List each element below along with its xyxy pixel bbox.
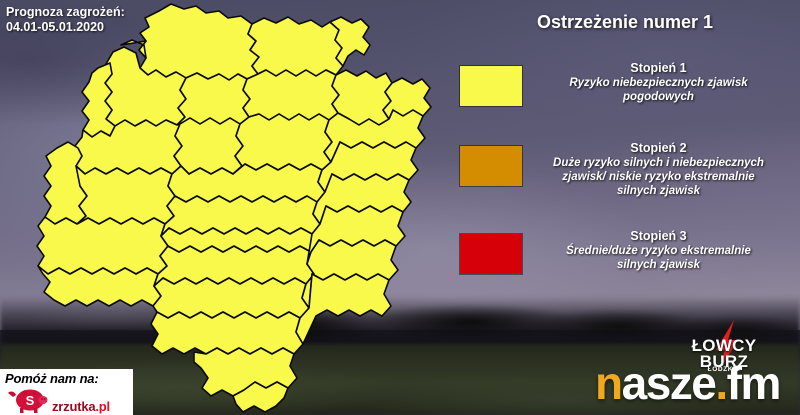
county-area: [151, 312, 303, 354]
radio-logo-nasze-fm[interactable]: nasze.fm: [595, 358, 780, 408]
svg-text:S: S: [26, 393, 35, 408]
county-area: [177, 73, 250, 125]
county-area: [174, 118, 243, 174]
county-area: [76, 166, 175, 224]
radio-logo-fm: fm: [727, 357, 780, 409]
radio-logo-dot: .: [715, 357, 726, 409]
radio-logo-mid: asze: [622, 357, 716, 409]
legend-swatch-level-2: [460, 146, 522, 186]
legend-text-level-3: Stopień 3 Średnie/duże ryzyko ekstremaln…: [522, 228, 795, 272]
donate-site-base: zrzutka: [52, 399, 95, 414]
legend-row-level-2[interactable]: Stopień 2 Duże ryzyko silnych i niebezpi…: [455, 140, 795, 198]
legend-row-level-1[interactable]: Stopień 1 Ryzyko niebezpiecznych zjawisk…: [455, 60, 795, 106]
warning-map[interactable]: [0, 0, 460, 415]
county-area: [139, 4, 259, 80]
legend-swatch-level-1: [460, 66, 522, 106]
county-area: [248, 17, 343, 76]
map-svg: [0, 0, 460, 415]
donate-site-name: zrzutka.pl: [52, 399, 110, 414]
legend-text-level-1: Stopień 1 Ryzyko niebezpiecznych zjawisk…: [522, 60, 795, 104]
legend-swatch-level-3: [460, 234, 522, 274]
legend-description-3: Średnie/duże ryzyko ekstremalnie silnych…: [528, 244, 789, 272]
donate-banner[interactable]: Pomóż nam na: S zrzutka.pl: [0, 369, 133, 415]
radio-logo-n: n: [595, 357, 622, 409]
page-title: Ostrzeżenie numer 1: [455, 12, 795, 33]
legend-description-1: Ryzyko niebezpiecznych zjawisk pogodowyc…: [528, 76, 789, 104]
legend-level-label-3: Stopień 3: [528, 228, 789, 244]
donate-site-tld: .pl: [95, 399, 110, 414]
legend-level-label-2: Stopień 2: [528, 140, 789, 156]
piggy-bank-icon: S: [6, 387, 50, 415]
legend-level-label-1: Stopień 1: [528, 60, 789, 76]
donate-prompt: Pomóż nam na:: [5, 371, 98, 386]
county-area: [38, 266, 161, 306]
county-area: [330, 17, 370, 66]
legend-row-level-3[interactable]: Stopień 3 Średnie/duże ryzyko ekstremaln…: [455, 228, 795, 274]
county-group: [37, 4, 431, 412]
county-area: [243, 70, 339, 120]
legend-description-2: Duże ryzyko silnych i niebezpiecznych zj…: [528, 156, 789, 198]
county-area: [153, 278, 309, 318]
legend: Stopień 1 Ryzyko niebezpiecznych zjawisk…: [455, 60, 795, 288]
legend-text-level-2: Stopień 2 Duże ryzyko silnych i niebezpi…: [522, 140, 795, 198]
county-area: [37, 217, 168, 274]
screenshot-stage: Prognoza zagrożeń: 04.01-05.01.2020 Ostr…: [0, 0, 800, 415]
